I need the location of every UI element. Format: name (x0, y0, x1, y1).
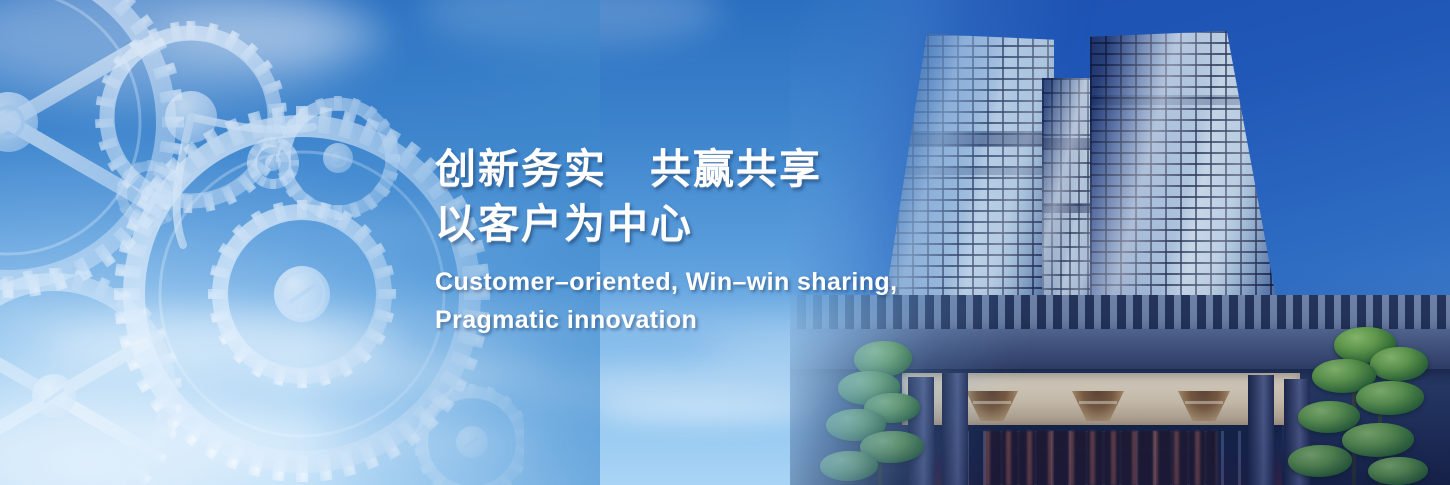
subtitle-line-1: Customer–oriented, Win–win sharing, (435, 263, 995, 301)
corporate-hero-banner: 创新务实 共赢共享 以客户为中心 Customer–oriented, Win–… (0, 0, 1450, 485)
headline-line-1: 创新务实 共赢共享 (435, 142, 995, 197)
banner-copy: 创新务实 共赢共享 以客户为中心 Customer–oriented, Win–… (435, 142, 995, 339)
subtitle-line-2: Pragmatic innovation (435, 301, 995, 339)
headline-line-2: 以客户为中心 (435, 197, 995, 252)
